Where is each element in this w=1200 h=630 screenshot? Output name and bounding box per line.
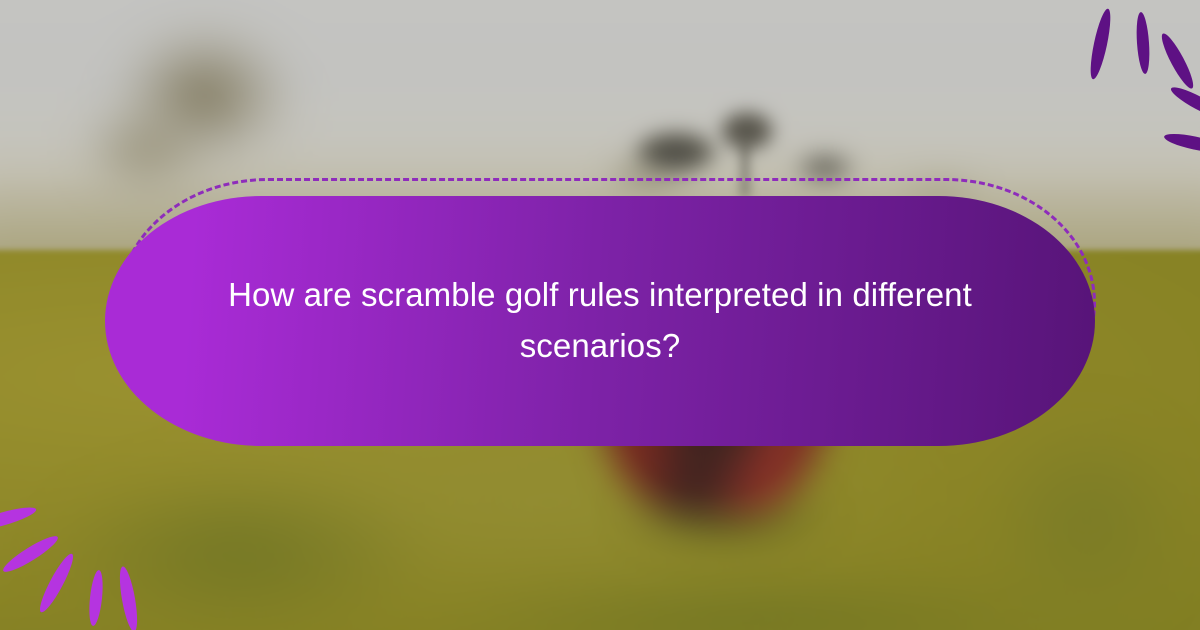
question-card-group: How are scramble golf rules interpreted … bbox=[0, 0, 1200, 630]
question-title: How are scramble golf rules interpreted … bbox=[220, 270, 980, 372]
question-card[interactable]: How are scramble golf rules interpreted … bbox=[105, 196, 1095, 446]
